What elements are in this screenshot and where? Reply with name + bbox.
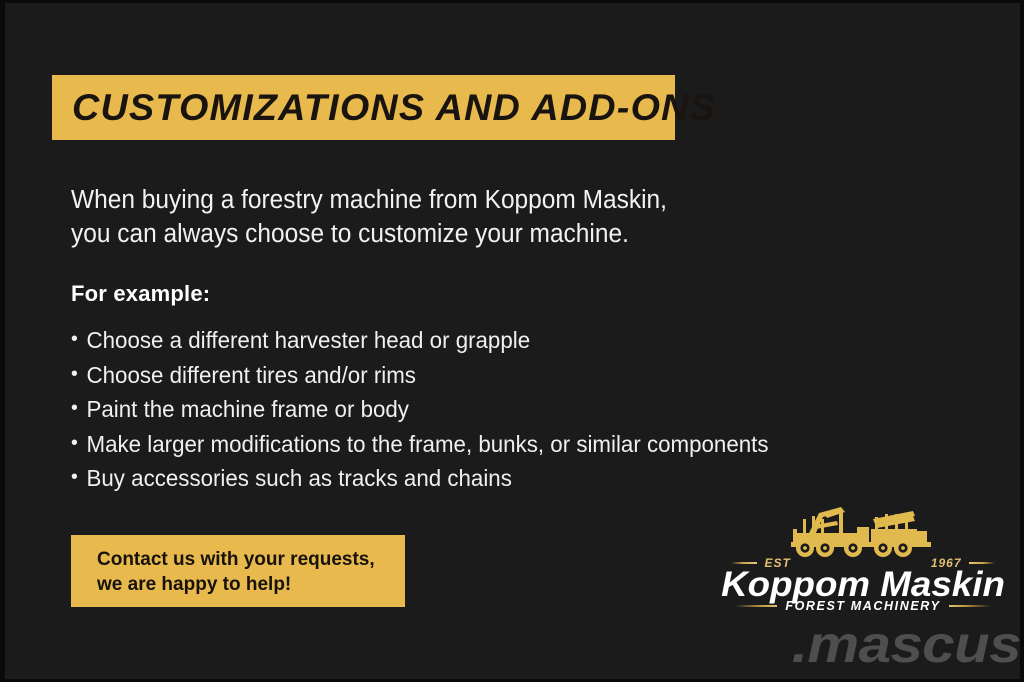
list-item: Choose a different harvester head or gra… (71, 325, 808, 360)
cta-line-2: we are happy to help! (97, 572, 405, 597)
intro-paragraph: When buying a forestry machine from Kopp… (71, 183, 743, 251)
logo-rule-left (731, 562, 757, 564)
logo-tagline-rule-left (735, 605, 777, 607)
contact-cta-box[interactable]: Contact us with your requests, we are ha… (71, 535, 405, 607)
marketing-slide: CUSTOMIZATIONS AND ADD-ONS When buying a… (0, 0, 1024, 682)
koppom-maskin-logo: EST 1967 Koppom Maskin FOREST MACHINERY (727, 503, 999, 613)
logo-est-year: 1967 (931, 556, 962, 570)
cta-line-1: Contact us with your requests, (97, 547, 405, 572)
for-example-label: For example: (71, 281, 210, 307)
logo-est-label: EST (764, 556, 790, 570)
logo-tagline-rule-right (949, 605, 991, 607)
title-banner: CUSTOMIZATIONS AND ADD-ONS (52, 75, 675, 140)
intro-line-1: When buying a forestry machine from Kopp… (71, 183, 743, 217)
list-item: Buy accessories such as tracks and chain… (71, 463, 808, 498)
list-item: Choose different tires and/or rims (71, 360, 808, 395)
customization-options-list: Choose a different harvester head or gra… (71, 325, 831, 498)
mascus-watermark: .mascus (725, 617, 1021, 673)
intro-line-2: you can always choose to customize your … (71, 217, 743, 251)
page-title: CUSTOMIZATIONS AND ADD-ONS (72, 87, 716, 129)
forwarder-machine-icon (779, 503, 951, 561)
list-item: Make larger modifications to the frame, … (71, 429, 808, 464)
logo-tagline: FOREST MACHINERY (785, 599, 940, 613)
list-item: Paint the machine frame or body (71, 394, 808, 429)
logo-tagline-row: FOREST MACHINERY (735, 599, 991, 613)
logo-rule-right (969, 562, 995, 564)
